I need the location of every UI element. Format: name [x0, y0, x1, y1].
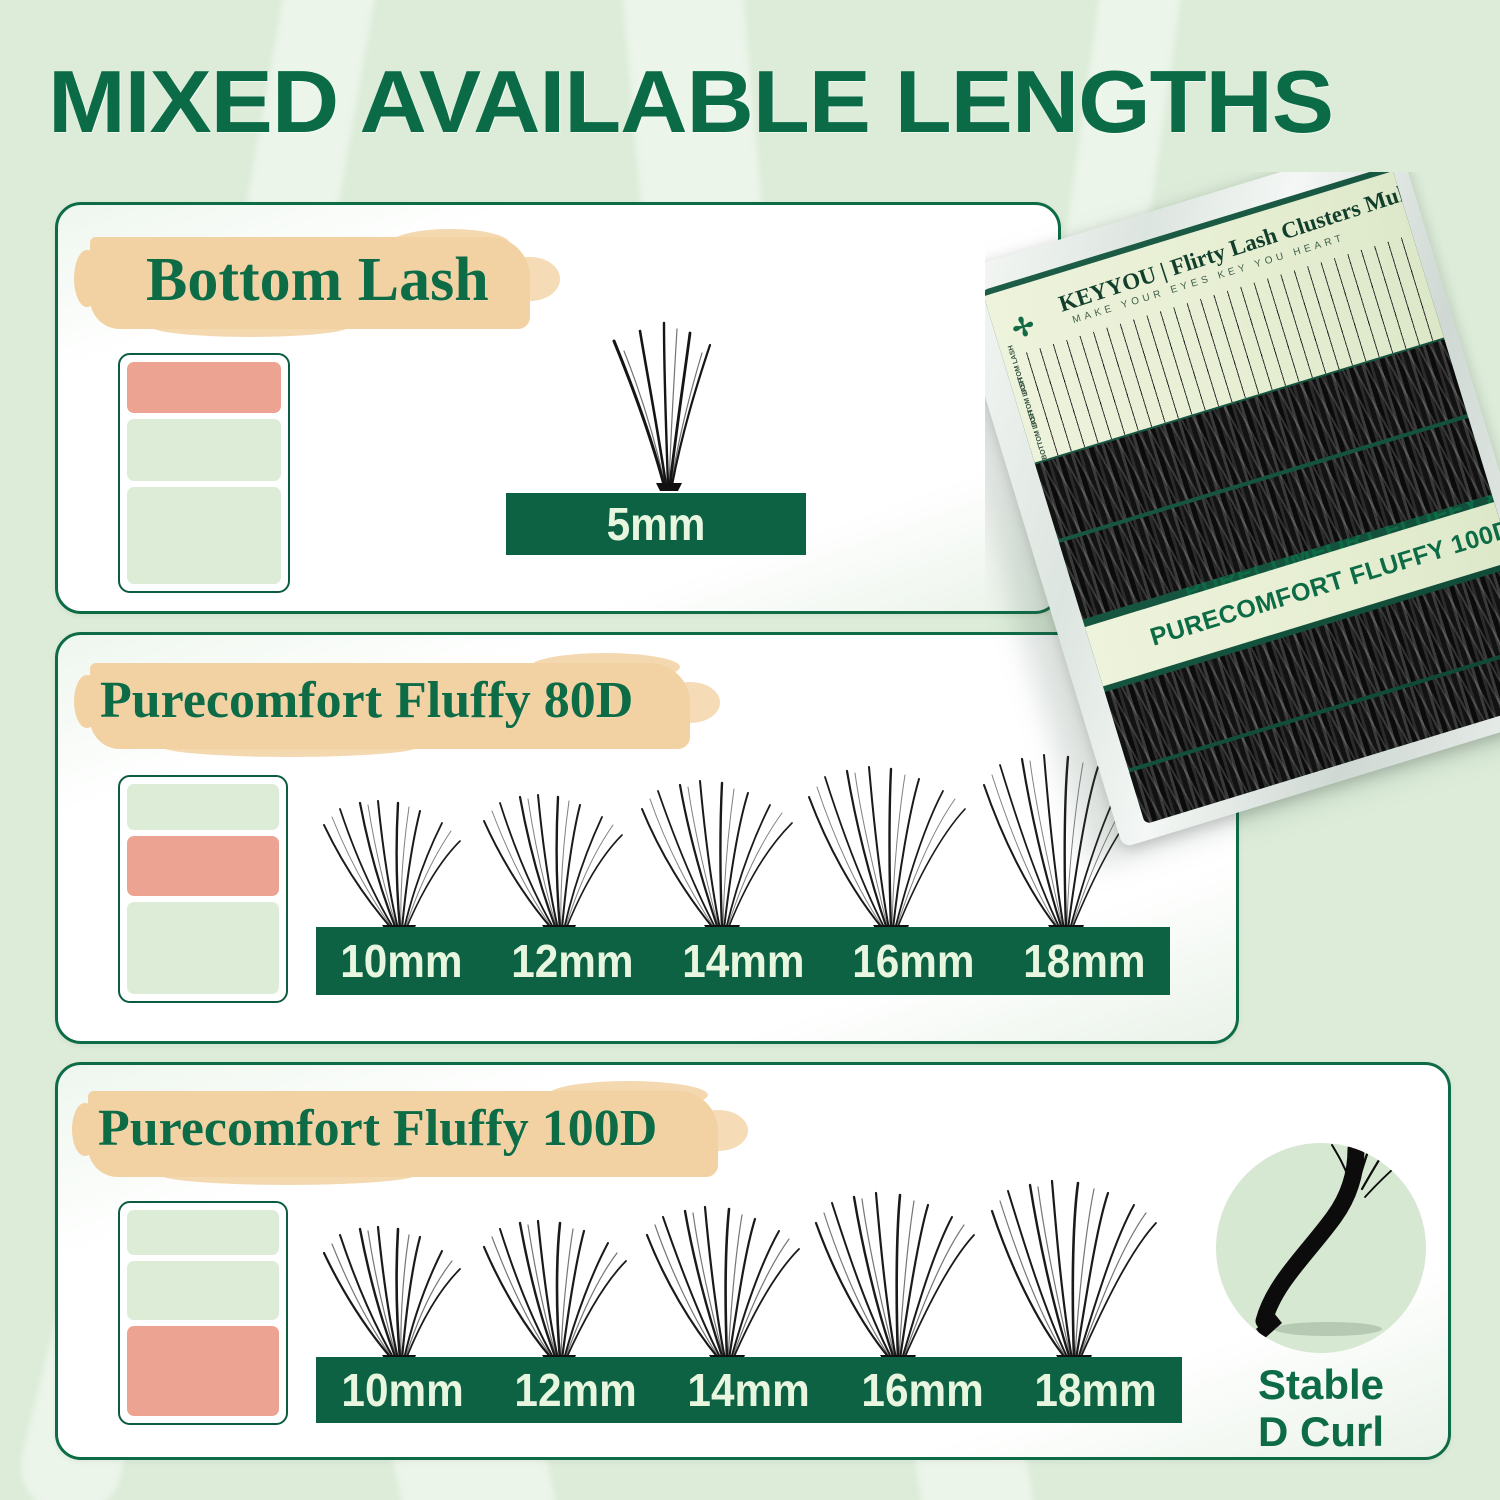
indicator-row-2 [127, 836, 279, 896]
card-heading-bottom-lash: Bottom Lash [146, 245, 489, 316]
indicator-row-1 [127, 362, 281, 413]
length-label-5mm: 5mm [518, 497, 794, 551]
length-label-18mm: 18mm [1016, 1363, 1175, 1417]
length-label-14mm: 14mm [669, 1363, 828, 1417]
keyyou-logo-icon: ✢ [1009, 310, 1038, 346]
lash-cluster-16mm [810, 1177, 985, 1369]
length-indicator-80d [118, 775, 288, 1003]
length-indicator-bottom-lash [118, 353, 290, 593]
length-label-16mm: 16mm [835, 934, 992, 988]
d-curl-label: Stable D Curl [1196, 1361, 1446, 1455]
indicator-row-1 [127, 1210, 279, 1255]
length-label-12mm: 12mm [496, 1363, 655, 1417]
lash-cluster-12mm [476, 1189, 641, 1369]
length-label-18mm: 18mm [1006, 934, 1163, 988]
card-heading-100d: Purecomfort Fluffy 100D [98, 1099, 657, 1158]
measure-bar-100d: 10mm 12mm 14mm 16mm 18mm [316, 1357, 1182, 1423]
lash-cluster-10mm [316, 759, 476, 939]
indicator-row-3 [127, 487, 281, 584]
page-title: MIXED AVAILABLE LENGTHS [48, 58, 1500, 146]
measure-bar-80d: 10mm 12mm 14mm 16mm 18mm [316, 927, 1170, 995]
indicator-row-2 [127, 419, 281, 480]
lash-cluster-12mm [476, 759, 636, 939]
lash-cluster-14mm [636, 753, 806, 939]
length-label-10mm: 10mm [323, 934, 480, 988]
indicator-row-3 [127, 1326, 279, 1416]
lash-cluster-5mm [578, 313, 748, 493]
length-label-12mm: 12mm [494, 934, 651, 988]
measure-bar-bottom-lash: 5mm [506, 493, 806, 555]
lash-cluster-14mm [641, 1183, 811, 1369]
lash-cluster-18mm [986, 1171, 1166, 1369]
card-heading-80d: Purecomfort Fluffy 80D [100, 671, 633, 730]
length-label-10mm: 10mm [323, 1363, 482, 1417]
card-purecomfort-fluffy-100d: Purecomfort Fluffy 100D 10mm 12mm 14mm 1… [55, 1062, 1451, 1460]
length-indicator-100d [118, 1201, 288, 1425]
card-bottom-lash: Bottom Lash 5mm [55, 202, 1061, 614]
d-curl-illustration [1216, 1143, 1426, 1353]
indicator-row-3 [127, 902, 279, 994]
indicator-row-2 [127, 1261, 279, 1320]
length-label-16mm: 16mm [843, 1363, 1002, 1417]
indicator-row-1 [127, 784, 279, 830]
product-tray-photo: KEYYOU | Flirty Lash Clusters Mulit-Type… [985, 172, 1500, 932]
lash-cluster-10mm [316, 1191, 476, 1369]
lash-cluster-16mm [803, 747, 978, 939]
length-label-14mm: 14mm [664, 934, 821, 988]
